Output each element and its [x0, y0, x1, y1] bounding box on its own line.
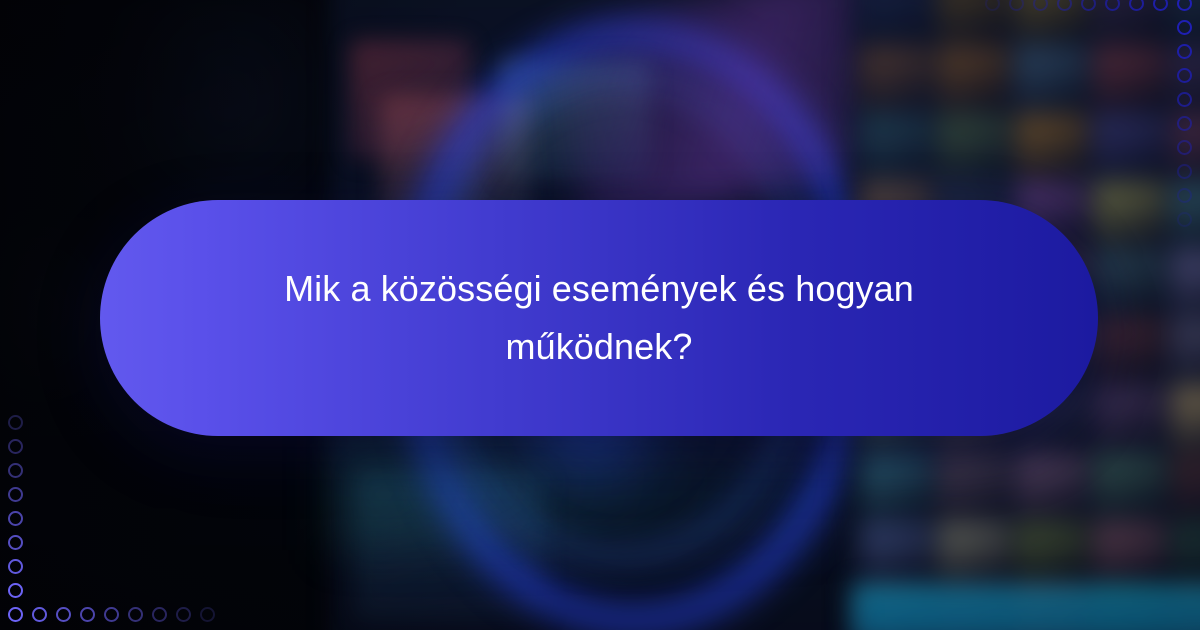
decoration-dot: [32, 607, 47, 622]
decoration-dot: [200, 607, 215, 622]
decoration-dots-bottom-left-row: [8, 607, 215, 622]
decoration-dot: [8, 511, 23, 526]
decoration-dot: [1105, 0, 1120, 11]
decoration-dot: [152, 607, 167, 622]
decoration-dot: [1033, 0, 1048, 11]
decoration-dot: [985, 0, 1000, 11]
decoration-dot: [8, 535, 23, 550]
headline-pill: Mik a közösségi események és hogyan műkö…: [100, 200, 1098, 436]
decoration-dot: [1177, 140, 1192, 155]
decoration-dot: [1177, 92, 1192, 107]
decoration-dots-top-right-row: [985, 0, 1192, 11]
decoration-dot: [1177, 116, 1192, 131]
decoration-dot: [1177, 68, 1192, 83]
decoration-dots-bottom-left-column: [8, 415, 23, 598]
decoration-dot: [1129, 0, 1144, 11]
decoration-dots-top-right-column: [1177, 20, 1192, 227]
decoration-dot: [8, 583, 23, 598]
page-title: Mik a közösségi események és hogyan műkö…: [100, 260, 1098, 375]
decoration-dot: [104, 607, 119, 622]
decoration-dot: [176, 607, 191, 622]
decoration-dot: [8, 463, 23, 478]
decoration-dot: [8, 487, 23, 502]
decoration-dot: [80, 607, 95, 622]
social-share-card: Mik a közösségi események és hogyan műkö…: [0, 0, 1200, 630]
decoration-dot: [56, 607, 71, 622]
decoration-dot: [1177, 212, 1192, 227]
decoration-dot: [128, 607, 143, 622]
decoration-dot: [1081, 0, 1096, 11]
decoration-dot: [8, 439, 23, 454]
decoration-dot: [1177, 0, 1192, 11]
decoration-dot: [1009, 0, 1024, 11]
decoration-dot: [1177, 44, 1192, 59]
decoration-dot: [1177, 164, 1192, 179]
decoration-dot: [8, 607, 23, 622]
decoration-dot: [1177, 20, 1192, 35]
decoration-dot: [8, 559, 23, 574]
decoration-dot: [1177, 188, 1192, 203]
decoration-dot: [1057, 0, 1072, 11]
decoration-dot: [1153, 0, 1168, 11]
decoration-dot: [8, 415, 23, 430]
